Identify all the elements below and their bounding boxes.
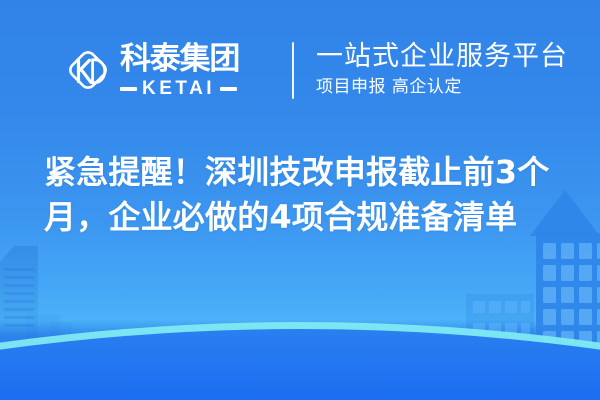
tagline-main: 一站式企业服务平台 [316,42,568,72]
left-low-building-group [26,315,72,343]
promo-banner: 科泰集团 KETAI 一站式企业服务平台 项目申报 高企认定 紧急提醒！深圳技改… [0,0,600,400]
logo-wordmark: 科泰集团 KETAI [120,42,272,98]
company-name-cn-text: 科泰集团 [120,42,239,76]
company-name-cn: 科泰集团 [120,42,272,76]
brand-logo[interactable]: 科泰集团 KETAI [62,42,272,98]
company-name-en: KETAI [142,79,215,98]
ketai-diamond-monogram-icon [62,44,114,96]
tagline-sub: 项目申报 高企认定 [316,77,568,97]
logo-en-row: KETAI [120,79,272,98]
page-title: 紧急提醒！深圳技改申报截止前3个月，企业必做的4项合规准备清单 [44,150,560,241]
banner-header: 科泰集团 KETAI 一站式企业服务平台 项目申报 高企认定 [0,0,600,140]
right-mid-building-group [466,294,534,348]
tagline-block: 一站式企业服务平台 项目申报 高企认定 [316,42,568,98]
left-tower-group [0,246,38,340]
dash-right-icon [220,87,237,91]
dash-left-icon [120,87,137,91]
wave-divider-group [0,322,600,400]
header-divider [292,42,294,99]
title-wrap: 紧急提醒！深圳技改申报截止前3个月，企业必做的4项合规准备清单 [44,150,560,241]
